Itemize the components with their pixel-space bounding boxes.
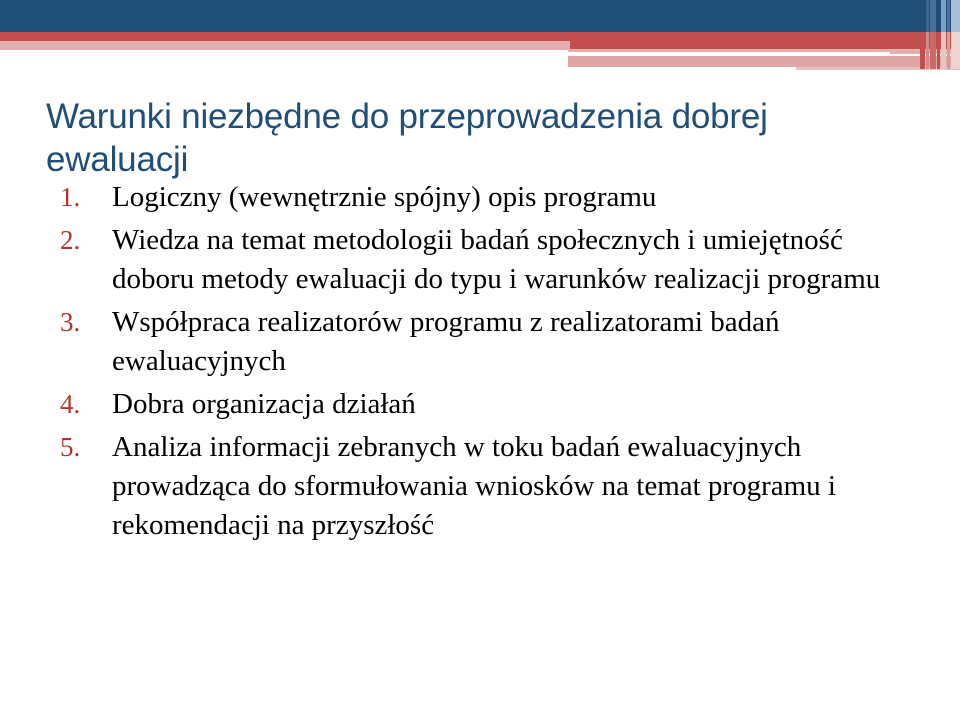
list-item-text: Dobra organizacja działań <box>112 385 916 424</box>
list-item-number: 1. <box>46 178 112 217</box>
list-item: 3. Współpraca realizatorów programu z re… <box>46 303 916 381</box>
numbered-list: 1. Logiczny (wewnętrznie spójny) opis pr… <box>46 178 916 549</box>
header-stripe-bottom <box>941 32 946 69</box>
header-red-band-left <box>0 32 570 41</box>
header-stripe-top <box>920 0 925 32</box>
page-title: Warunki niezbędne do przeprowadzenia dob… <box>46 95 906 181</box>
header-stripe-bottom <box>926 32 929 69</box>
list-item: 5. Analiza informacji zebranych w toku b… <box>46 428 916 545</box>
list-item-text: Analiza informacji zebranych w toku bada… <box>112 428 916 545</box>
header-stripe-top <box>951 0 960 32</box>
list-item-number: 3. <box>46 303 112 342</box>
list-item: 1. Logiczny (wewnętrznie spójny) opis pr… <box>46 178 916 217</box>
header-blue-band <box>0 0 960 32</box>
header-stripe-top <box>930 0 936 32</box>
header-vertical-stripes <box>920 0 960 72</box>
header-stripe-bottom <box>937 32 940 69</box>
list-item-text: Logiczny (wewnętrznie spójny) opis progr… <box>112 178 916 217</box>
list-item-number: 5. <box>46 428 112 467</box>
list-item-text: Wiedza na temat metodologii badań społec… <box>112 221 916 299</box>
list-item-text: Współpraca realizatorów programu z reali… <box>112 303 916 381</box>
presentation-slide: Warunki niezbędne do przeprowadzenia dob… <box>0 0 960 720</box>
header-stripe-top <box>941 0 946 32</box>
header-pink-band-left <box>0 41 570 50</box>
header-pink-band-right-lower <box>568 56 960 67</box>
list-item: 4. Dobra organizacja działań <box>46 385 916 424</box>
slide-header-decoration <box>0 0 960 72</box>
header-stripe-top <box>926 0 929 32</box>
header-stripe-top <box>947 0 950 32</box>
header-stripe-top <box>937 0 940 32</box>
header-red-band-right <box>568 32 960 49</box>
header-stripe-bottom <box>947 32 950 69</box>
header-white-gap-lower <box>568 67 796 72</box>
list-item-number: 2. <box>46 221 112 260</box>
header-stripe-bottom <box>930 32 936 69</box>
header-stripe-bottom <box>920 32 925 69</box>
header-stripe-bottom <box>951 32 960 69</box>
list-item-number: 4. <box>46 385 112 424</box>
list-item: 2. Wiedza na temat metodologii badań spo… <box>46 221 916 299</box>
